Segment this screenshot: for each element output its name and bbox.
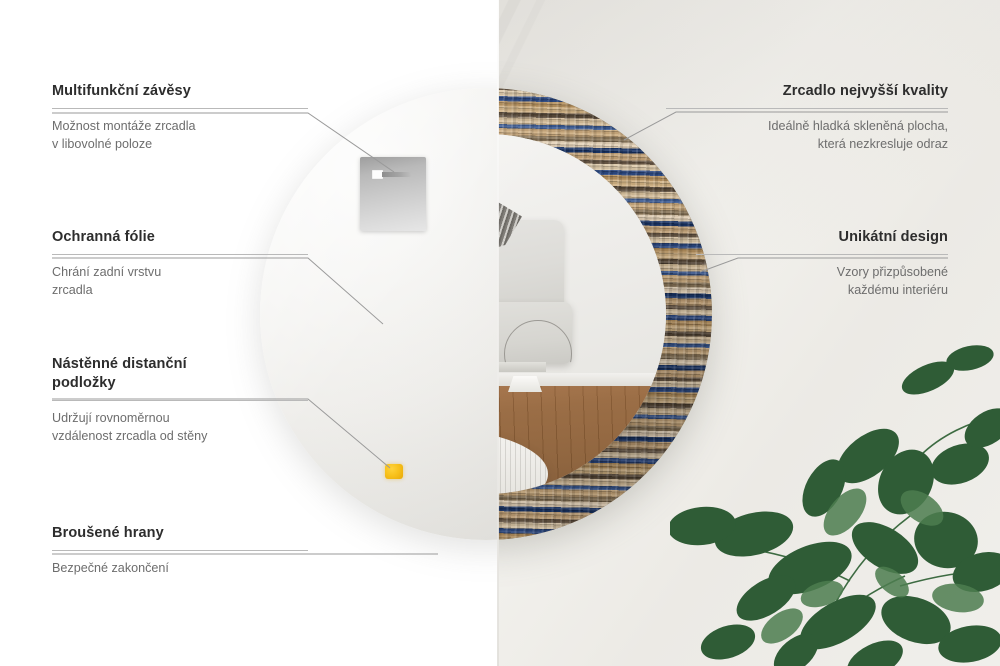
mirror-glass-surface: [498, 134, 666, 494]
callout-ochranna-folie: Ochranná fólie Chrání zadní vrstvu zrcad…: [52, 228, 308, 300]
callout-description: Ideálně hladká skleněná plocha, která ne…: [666, 118, 948, 154]
callout-title: Nástěnné distanční podložky: [52, 355, 308, 393]
callout-nastenne-distancni-podlozky: Nástěnné distanční podložky Udržují rovn…: [52, 355, 308, 446]
callout-description: Bezpečné zakončení: [52, 560, 308, 578]
infographic-canvas: Multifunkční závěsy Možnost montáže zrca…: [0, 0, 1000, 666]
callout-rule: [666, 108, 948, 109]
half-split-divider: [497, 0, 499, 666]
callout-rule: [52, 400, 308, 401]
callout-zrcadlo-nejvyssi-kvality: Zrcadlo nejvyšší kvality Ideálně hladká …: [666, 82, 948, 154]
printed-wood-frame: [498, 88, 712, 540]
callout-brousene-hrany: Broušené hrany Bezpečné zakončení: [52, 524, 308, 578]
callout-title: Unikátní design: [696, 228, 948, 247]
callout-title: Broušené hrany: [52, 524, 308, 543]
hanger-plate-icon: [360, 157, 426, 231]
callout-description: Vzory přizpůsobené každému interiéru: [696, 264, 948, 300]
callout-title: Zrcadlo nejvyšší kvality: [666, 82, 948, 101]
callout-unikatni-design: Unikátní design Vzory přizpůsobené každé…: [696, 228, 948, 300]
callout-multifunkcni-zavesy: Multifunkční závěsy Možnost montáže zrca…: [52, 82, 308, 154]
callout-rule: [52, 550, 308, 551]
callout-title: Ochranná fólie: [52, 228, 308, 247]
mirror-back-surface: [260, 88, 498, 540]
hanger-keyhole-slot: [372, 170, 412, 179]
callout-rule: [52, 254, 308, 255]
wall-spacer-pad-icon: [385, 464, 403, 479]
callout-title: Multifunkční závěsy: [52, 82, 308, 101]
callout-description: Chrání zadní vrstvu zrcadla: [52, 264, 308, 300]
reflected-arc-floor-lamp: [502, 320, 576, 416]
callout-description: Udržují rovnoměrnou vzdálenost zrcadla o…: [52, 410, 308, 446]
callout-rule: [696, 254, 948, 255]
callout-description: Možnost montáže zrcadla v libovolné polo…: [52, 118, 308, 154]
callout-rule: [52, 108, 308, 109]
